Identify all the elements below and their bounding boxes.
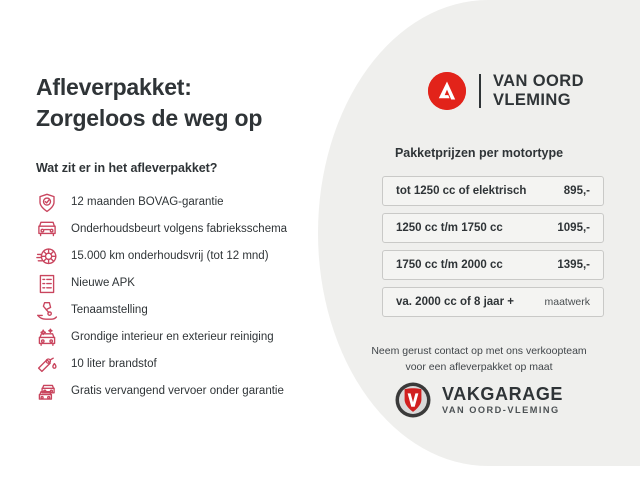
fuel-nozzle-icon	[36, 354, 58, 376]
price-row-label: tot 1250 cc of elektrisch	[396, 185, 564, 197]
left-content-column: Afleverpakket: Zorgeloos de weg op Wat z…	[36, 72, 336, 405]
vakgarage-title: VAKGARAGE	[442, 385, 563, 403]
pricing-panel: VAN OORD VLEMING Pakketprijzen per motor…	[318, 0, 640, 466]
feature-item: Nieuwe APK	[36, 270, 336, 297]
price-row-label: 1250 cc t/m 1750 cc	[396, 222, 557, 234]
brand-divider	[479, 74, 481, 108]
contact-note: Neem gerust contact op met ons verkoopte…	[318, 344, 640, 376]
feature-label: Grondige interieur en exterieur reinigin…	[71, 332, 274, 344]
feature-label: Tenaamstelling	[71, 305, 148, 317]
car-clean-icon	[36, 327, 58, 349]
price-row-label: va. 2000 cc of 8 jaar +	[396, 296, 544, 308]
towbar-hand-icon	[36, 300, 58, 322]
page-title: Afleverpakket: Zorgeloos de weg op	[36, 72, 336, 133]
feature-item: Onderhoudsbeurt volgens fabrieksschema	[36, 216, 336, 243]
checklist-icon	[36, 273, 58, 295]
feature-item: 10 liter brandstof	[36, 351, 336, 378]
vakgarage-wordmark: VAKGARAGE VAN OORD-VLEMING	[442, 385, 563, 415]
price-row: 1750 cc t/m 2000 cc1395,-	[382, 250, 604, 280]
feature-label: 10 liter brandstof	[71, 359, 157, 371]
pricing-panel-inner: VAN OORD VLEMING Pakketprijzen per motor…	[318, 0, 640, 466]
pricing-table: tot 1250 cc of elektrisch895,-1250 cc t/…	[382, 176, 604, 324]
price-row: 1250 cc t/m 1750 cc1095,-	[382, 213, 604, 243]
car-service-icon	[36, 219, 58, 241]
price-row-value: 1395,-	[557, 259, 590, 271]
feature-item: Gratis vervangend vervoer onder garantie	[36, 378, 336, 405]
price-row-value: 1095,-	[557, 222, 590, 234]
section-subheading: Wat zit er in het afleverpakket?	[36, 161, 336, 175]
feature-item: Tenaamstelling	[36, 297, 336, 324]
pricing-title: Pakketprijzen per motortype	[318, 146, 640, 160]
price-row-label: 1750 cc t/m 2000 cc	[396, 259, 557, 271]
delivery-package-infographic: Afleverpakket: Zorgeloos de weg op Wat z…	[0, 0, 640, 480]
feature-item: 12 maanden BOVAG-garantie	[36, 189, 336, 216]
wheel-speed-icon	[36, 246, 58, 268]
feature-label: Nieuwe APK	[71, 278, 135, 290]
feature-label: 12 maanden BOVAG-garantie	[71, 197, 224, 209]
price-row-value: 895,-	[564, 185, 590, 197]
vakgarage-shield-icon	[395, 382, 431, 418]
price-row: va. 2000 cc of 8 jaar +maatwerk	[382, 287, 604, 317]
feature-label: 15.000 km onderhoudsvrij (tot 12 mnd)	[71, 251, 269, 263]
brand-name: VAN OORD VLEMING	[493, 72, 584, 110]
feature-label: Onderhoudsbeurt volgens fabrieksschema	[71, 224, 287, 236]
price-row-value: maatwerk	[544, 296, 590, 308]
vakgarage-subtitle: VAN OORD-VLEMING	[442, 406, 563, 415]
feature-item: Grondige interieur en exterieur reinigin…	[36, 324, 336, 351]
brand-a-monogram-icon	[428, 72, 466, 110]
price-row: tot 1250 cc of elektrisch895,-	[382, 176, 604, 206]
feature-list: 12 maanden BOVAG-garantieOnderhoudsbeurt…	[36, 189, 336, 405]
feature-label: Gratis vervangend vervoer onder garantie	[71, 386, 284, 398]
two-cars-icon	[36, 381, 58, 403]
vakgarage-logo: VAKGARAGE VAN OORD-VLEMING	[318, 382, 640, 418]
brand-logo-van-oord-vleming: VAN OORD VLEMING	[428, 72, 584, 110]
shield-check-icon	[36, 192, 58, 214]
feature-item: 15.000 km onderhoudsvrij (tot 12 mnd)	[36, 243, 336, 270]
